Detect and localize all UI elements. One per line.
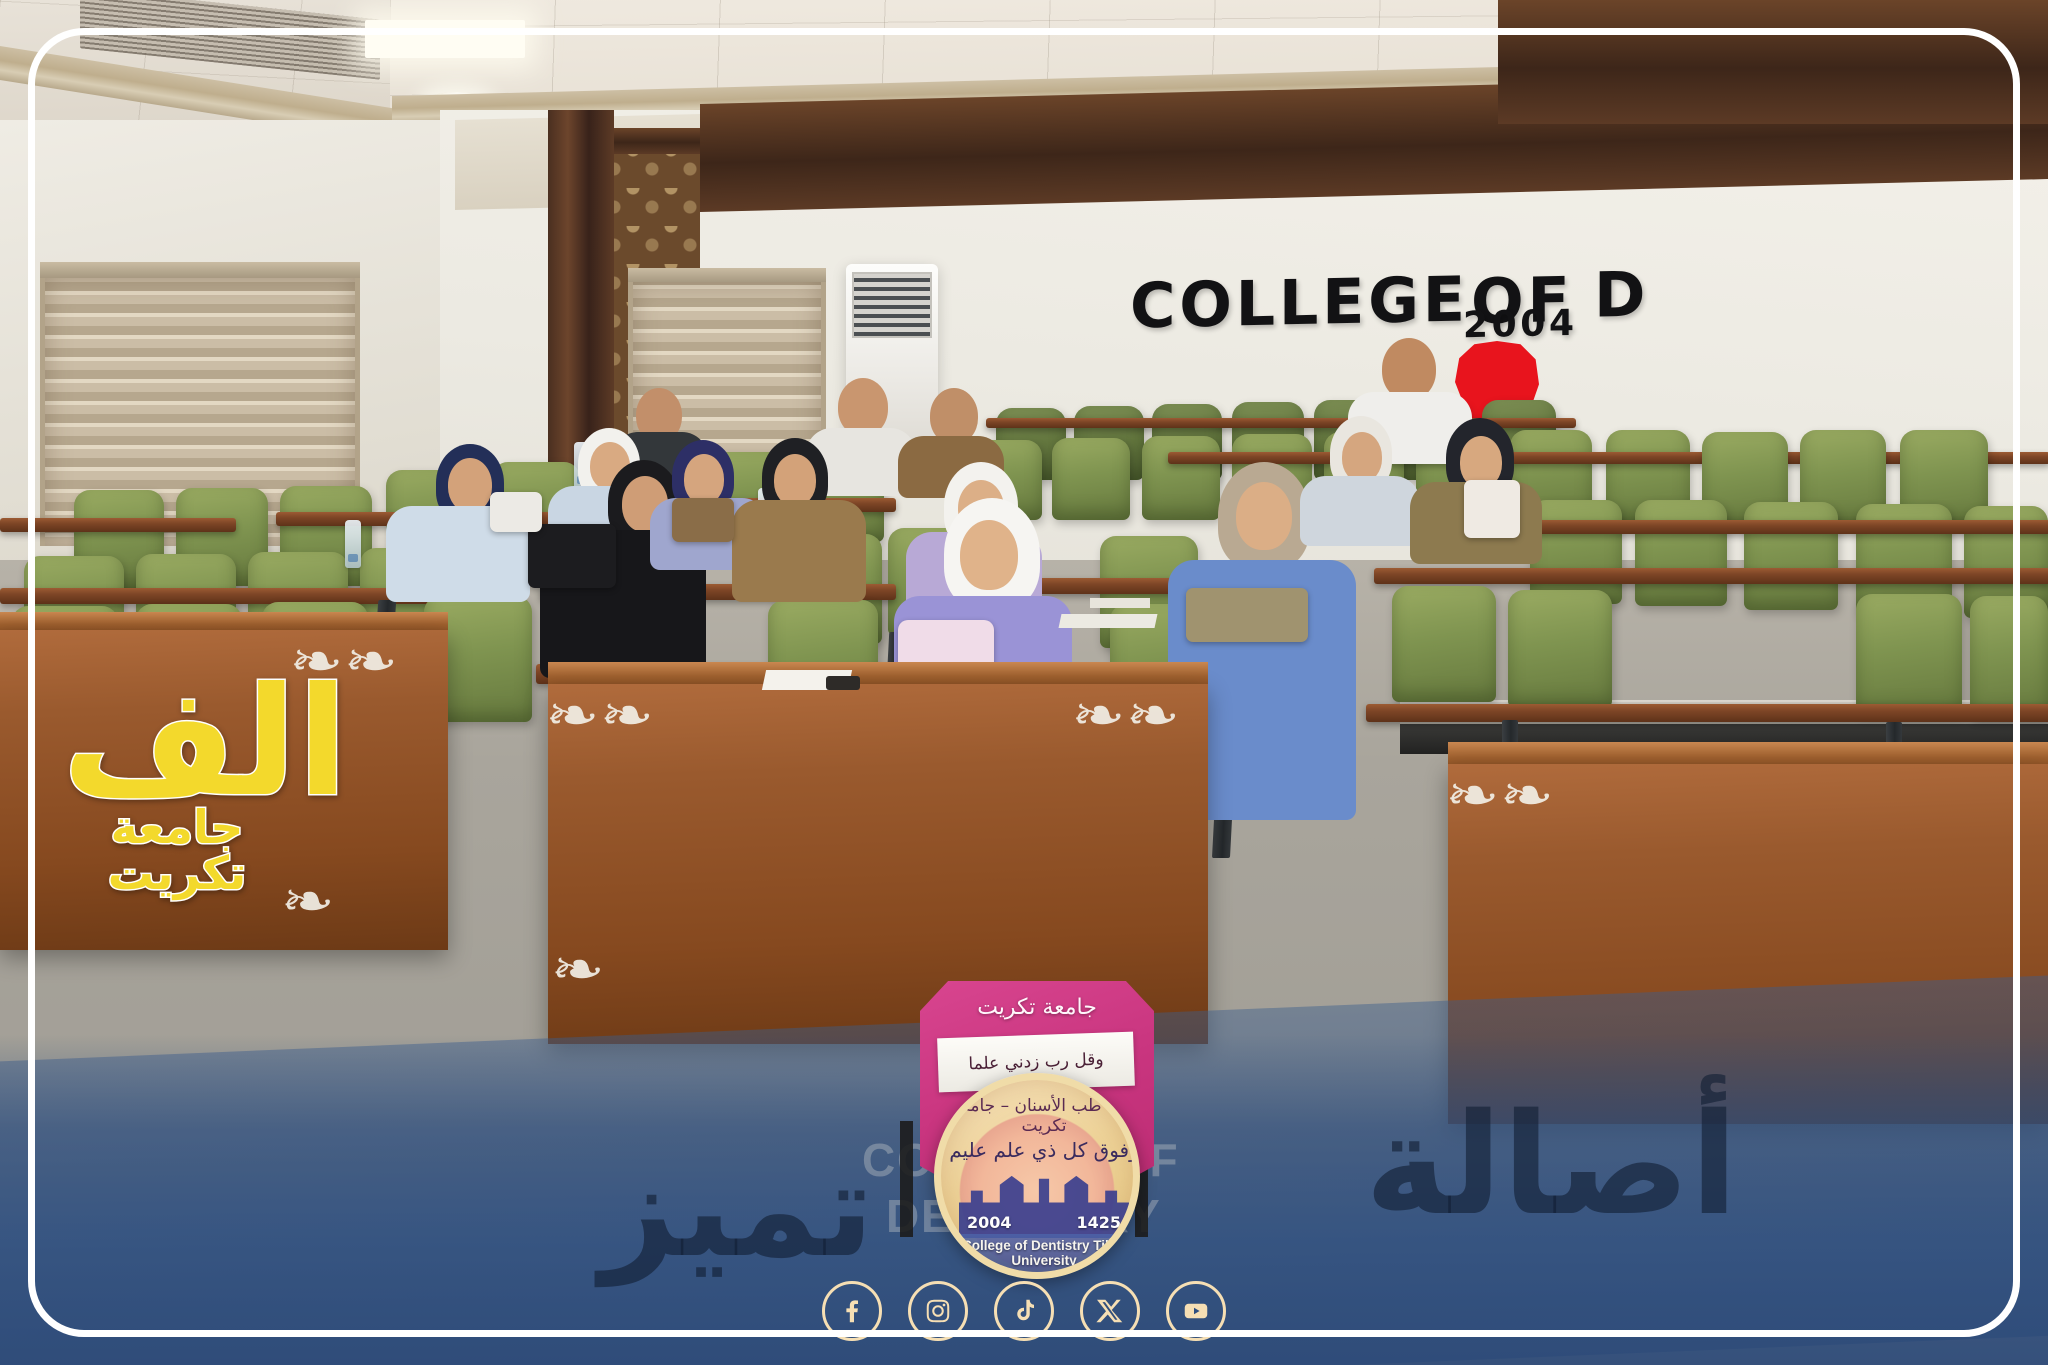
auditorium-seat — [1142, 436, 1220, 520]
corner-ornament: ❧❧ — [545, 690, 654, 742]
water-bottle — [345, 520, 361, 568]
auditorium-seat — [1635, 500, 1727, 606]
auditorium-seat — [1530, 500, 1622, 604]
auditorium-desk — [1374, 568, 2048, 584]
corner-ornament: ❧❧ — [1445, 770, 1554, 822]
phone — [826, 676, 860, 690]
auditorium-desk — [1366, 704, 2048, 722]
wood-wall-band — [1498, 0, 2048, 124]
wall-sign-year: 2004 — [1463, 303, 1578, 346]
corner-ornament: ❧ — [551, 944, 605, 996]
youtube-icon[interactable] — [1166, 1281, 1226, 1341]
handbag — [528, 524, 616, 588]
handbag — [1186, 588, 1308, 642]
tikrit-logo-glyph: الف — [62, 668, 292, 818]
instagram-icon[interactable] — [908, 1281, 968, 1341]
tiktok-icon[interactable] — [994, 1281, 1054, 1341]
x-twitter-icon[interactable] — [1080, 1281, 1140, 1341]
handbag — [1464, 480, 1520, 538]
auditorium-seat — [1392, 586, 1496, 702]
auditorium-seat — [1052, 438, 1130, 520]
handbag — [672, 498, 734, 542]
wood-trim — [614, 128, 702, 154]
wall-sign-dentistry-partial: D — [1594, 257, 1649, 331]
auditorium-seat — [1970, 596, 2048, 718]
ceiling-light-panel — [365, 20, 525, 58]
auditorium-seat — [1744, 502, 1838, 610]
handbag — [490, 492, 542, 532]
screenshot-root: COLLEGE OF D 2004 — [0, 0, 2048, 1365]
auditorium-seat — [1856, 594, 1962, 714]
auditorium-seat — [1508, 590, 1612, 708]
air-conditioner-grille — [852, 272, 932, 338]
auditorium-desk — [0, 518, 236, 532]
corner-ornament: ❧❧ — [1071, 690, 1180, 742]
paper-sheet — [1059, 614, 1158, 628]
lecture-hall-photo: COLLEGE OF D 2004 — [0, 0, 2048, 1365]
paper-sheet — [1090, 598, 1150, 608]
facebook-icon[interactable] — [822, 1281, 882, 1341]
tikrit-university-logo: الف جامعة تكريت — [62, 668, 292, 896]
wall-sign-college: COLLEGE — [1130, 262, 1469, 342]
